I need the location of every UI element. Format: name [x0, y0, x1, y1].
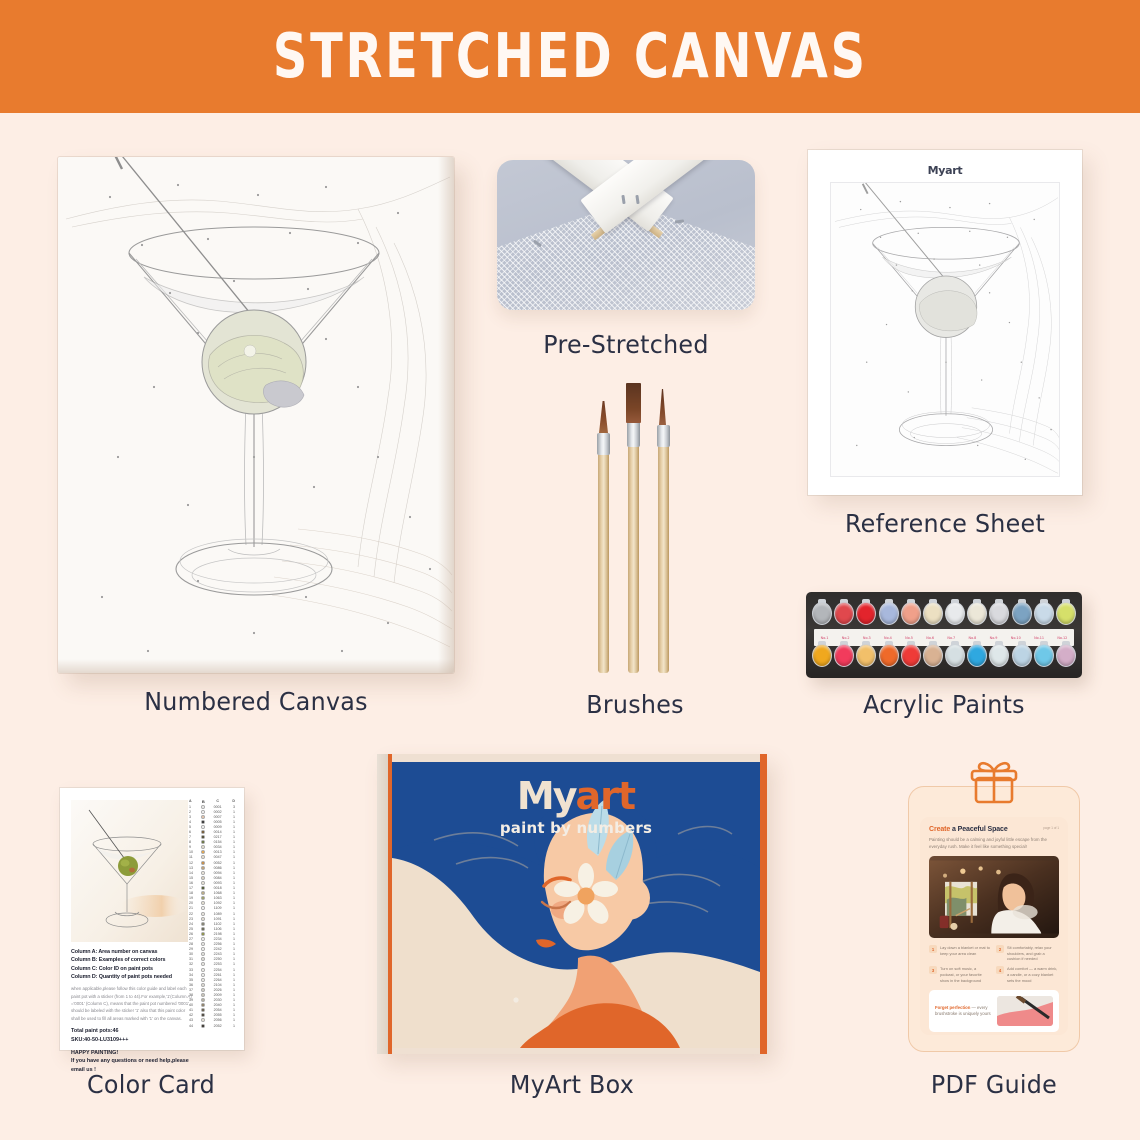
cell-color-swatch: [200, 825, 206, 829]
cell-color-id: 2030: [210, 998, 226, 1002]
col-header-a: A: [189, 799, 197, 803]
cell-area-number: 2: [189, 810, 197, 814]
logo-tagline: paint by numbers: [392, 819, 760, 837]
cell-color-swatch: [200, 830, 206, 834]
cell-color-swatch: [200, 978, 206, 982]
pdf-guide-tips: 1Lay down a blanket or mat to keep your …: [929, 945, 1059, 983]
color-card-row: 300071: [188, 814, 236, 819]
cell-color-id: 2104: [210, 983, 226, 987]
pdf-tip-item: 3Turn on soft music, a podcast, or your …: [929, 966, 991, 983]
cell-color-swatch: [200, 983, 206, 987]
reference-sheet-image: Myart: [808, 150, 1082, 495]
cell-area-number: 11: [189, 855, 197, 859]
cell-quantity: 1: [229, 917, 235, 921]
cell-quantity: 1: [229, 896, 235, 900]
legend-line-b: Column B: Examples of correct colors: [71, 956, 193, 964]
cell-color-swatch: [200, 927, 206, 931]
pdf-tip-text: Sit comfortably, relax your shoulders, a…: [1007, 945, 1058, 962]
cell-quantity: 1: [229, 901, 235, 905]
cell-quantity: 1: [229, 906, 235, 910]
cell-quantity: 1: [229, 820, 235, 824]
pdf-tip-item: 4Add comfort — a warm drink, a candle, o…: [996, 966, 1058, 983]
paint-pot: [879, 641, 899, 669]
cell-quantity: 1: [229, 886, 235, 890]
cell-color-swatch: [200, 891, 206, 895]
color-card-row: 801541: [188, 840, 236, 845]
col-header-d: D: [229, 799, 235, 803]
color-card-legend: Column A: Area number on canvas Column B…: [71, 948, 193, 1074]
cell-color-id: 0086: [210, 866, 226, 870]
total-paint-pots: Total paint pots:46: [71, 1027, 193, 1035]
cell-color-swatch: [200, 855, 206, 859]
cell-color-id: 1068: [210, 891, 226, 895]
color-card-row: 4020401: [188, 1003, 236, 1008]
cell-color-id: 2256: [210, 942, 226, 946]
cell-area-number: 6: [189, 830, 197, 834]
cell-color-id: 2242: [210, 947, 226, 951]
logo-art-text: art: [576, 774, 636, 818]
cell-color-swatch: [200, 952, 206, 956]
cell-color-id: 1102: [210, 922, 226, 926]
cell-area-number: 20: [189, 901, 197, 905]
pdf-guide-footer-card: Forget perfection — every brushstroke is…: [929, 990, 1059, 1032]
color-card-row: 2922421: [188, 947, 236, 952]
cell-quantity: 1: [229, 810, 235, 814]
cell-quantity: 1: [229, 866, 235, 870]
paint-sticker-number: No.12: [1057, 636, 1067, 640]
caption-myart-box: MyArt Box: [387, 1070, 758, 1099]
cell-quantity: 1: [229, 983, 235, 987]
paint-pot: [901, 599, 921, 627]
cell-color-id: 2056: [210, 1018, 226, 1022]
paint-pot: [1034, 599, 1054, 627]
cell-color-id: 0052: [210, 861, 226, 865]
numbered-canvas-image: [58, 157, 454, 673]
cell-color-swatch: [200, 886, 206, 890]
color-card-row: 3422611: [188, 972, 236, 977]
cell-color-id: 2052: [210, 1024, 226, 1028]
paint-pot-body: [989, 644, 1009, 667]
caption-pre-stretched: Pre-Stretched: [503, 330, 748, 359]
caption-reference-sheet: Reference Sheet: [815, 509, 1075, 538]
paint-pot-body: [1012, 602, 1032, 625]
cell-color-swatch: [200, 871, 206, 875]
color-card-photo: [71, 800, 188, 942]
cell-color-id: 2054: [210, 1008, 226, 1012]
product-feature-poster: STRETCHED CANVAS: [0, 0, 1140, 1140]
paint-sticker-number: No.2: [842, 636, 850, 640]
cell-quantity: 1: [229, 912, 235, 916]
cell-color-swatch: [200, 845, 206, 849]
paint-row-top: [812, 599, 1076, 629]
cell-area-number: 9: [189, 845, 197, 849]
cell-area-number: 17: [189, 886, 197, 890]
cell-color-id: 1109: [210, 906, 226, 910]
paint-pot: [834, 641, 854, 669]
paint-pot: [967, 599, 987, 627]
cell-color-swatch: [200, 957, 206, 961]
cell-quantity: 1: [229, 830, 235, 834]
color-card-row: 3022431: [188, 952, 236, 957]
cell-color-id: 2055: [210, 1013, 226, 1017]
cell-color-swatch: [200, 901, 206, 905]
paint-pot: [812, 599, 832, 627]
paint-pot-body: [1056, 602, 1076, 625]
caption-acrylic-paints: Acrylic Paints: [813, 690, 1075, 719]
brush-round-small: [598, 405, 609, 673]
paint-pot: [989, 599, 1009, 627]
cell-color-swatch: [200, 881, 206, 885]
pdf-tip-item: 2Sit comfortably, relax your shoulders, …: [996, 945, 1058, 962]
color-card-table: A B C D 10001320002130007140005150009160…: [188, 799, 236, 1039]
caption-color-card: Color Card: [51, 1070, 251, 1099]
caption-numbered-canvas: Numbered Canvas: [68, 687, 444, 716]
cell-color-swatch: [200, 922, 206, 926]
color-card-row: 2010921: [188, 901, 236, 906]
cell-quantity: 1: [229, 891, 235, 895]
color-card-row: 1300861: [188, 865, 236, 870]
pdf-title-accent: Create: [929, 826, 950, 833]
paint-pot: [1034, 641, 1054, 669]
paint-pot-body: [923, 644, 943, 667]
paint-pot-body: [812, 602, 832, 625]
cell-color-id: 0047: [210, 855, 226, 859]
paint-sticker-number: No.3: [863, 636, 871, 640]
paint-pot-body: [901, 644, 921, 667]
brush-stroke-thumbnail: [997, 996, 1053, 1026]
cell-area-number: 23: [189, 917, 197, 921]
pdf-tip-number: 1: [929, 945, 937, 953]
cell-area-number: 25: [189, 927, 197, 931]
cell-color-id: 2254: [210, 968, 226, 972]
paint-pot-body: [945, 644, 965, 667]
reference-sheet-artwork: [830, 182, 1060, 477]
cell-area-number: 27: [189, 937, 197, 941]
pdf-footer-accent: Forget perfection: [935, 1005, 970, 1010]
box-front-face: Myart paint by numbers: [392, 762, 760, 1048]
color-card-row: 3920301: [188, 998, 236, 1003]
cell-color-swatch: [200, 810, 206, 814]
color-card-row: 2722341: [188, 936, 236, 941]
poster-header: STRETCHED CANVAS: [0, 0, 1140, 113]
paint-pot: [1012, 641, 1032, 669]
paint-sticker-number: No.1: [821, 636, 829, 640]
cell-quantity: 1: [229, 855, 235, 859]
pre-stretched-image: [497, 160, 755, 310]
cell-color-id: 2234: [210, 937, 226, 941]
col-header-b: B: [200, 799, 206, 803]
pdf-tip-number: 3: [929, 966, 937, 974]
color-card-row: 1000131: [188, 850, 236, 855]
cell-color-swatch: [200, 973, 206, 977]
pdf-guide-image: page 1 of 1 Create a Peaceful Space Pain…: [908, 786, 1080, 1052]
canvas-edge-right: [438, 157, 454, 673]
cell-color-swatch: [200, 861, 206, 865]
cell-color-swatch: [200, 962, 206, 966]
cell-color-id: 2026: [210, 988, 226, 992]
paint-pot-body: [812, 644, 832, 667]
cell-color-swatch: [200, 906, 206, 910]
cell-color-swatch: [200, 1018, 206, 1022]
paint-sticker-number: No.11: [1034, 636, 1044, 640]
paint-pot: [945, 641, 965, 669]
reference-sheet-logo: Myart: [808, 164, 1082, 177]
cell-quantity: 1: [229, 1013, 235, 1017]
cell-color-swatch: [200, 840, 206, 844]
col-header-c: C: [210, 799, 226, 803]
pdf-tip-text: Turn on soft music, a podcast, or your f…: [940, 966, 991, 983]
cell-color-id: 0018: [210, 886, 226, 890]
cell-quantity: 1: [229, 871, 235, 875]
pdf-tip-item: 1Lay down a blanket or mat to keep your …: [929, 945, 991, 962]
cell-quantity: 1: [229, 840, 235, 844]
color-card-row: 4120541: [188, 1008, 236, 1013]
cell-color-swatch: [200, 942, 206, 946]
cell-color-swatch: [200, 932, 206, 936]
brush-flat: [628, 383, 639, 673]
paint-pot: [967, 641, 987, 669]
cell-area-number: 21: [189, 906, 197, 910]
myart-logo: Myart paint by numbers: [392, 774, 760, 837]
cell-quantity: 1: [229, 988, 235, 992]
paint-pot-body: [1034, 644, 1054, 667]
color-card-row: 3621041: [188, 982, 236, 987]
cell-color-swatch: [200, 1003, 206, 1007]
cell-color-id: 1092: [210, 901, 226, 905]
paint-pot: [923, 641, 943, 669]
cell-quantity: 1: [229, 973, 235, 977]
cell-quantity: 1: [229, 942, 235, 946]
pdf-footer-text: Forget perfection — every brushstroke is…: [935, 1005, 991, 1017]
cell-color-swatch: [200, 993, 206, 997]
happy-painting-label: HAPPY PAINTING!: [71, 1049, 193, 1057]
cell-quantity: 1: [229, 1024, 235, 1028]
color-card-row: 2511061: [188, 926, 236, 931]
cell-area-number: 8: [189, 840, 197, 844]
paint-pot-body: [967, 602, 987, 625]
cell-color-id: 0093: [210, 881, 226, 885]
pdf-title-rest: a Peaceful Space: [950, 826, 1007, 833]
box-right-edge: [760, 754, 767, 1054]
gift-icon: [909, 759, 1079, 810]
cell-color-id: 0034: [210, 845, 226, 849]
cell-color-id: 0005: [210, 820, 226, 824]
pdf-tip-number: 4: [996, 966, 1004, 974]
color-card-row: 3222531: [188, 962, 236, 967]
paint-pot-body: [1034, 602, 1054, 625]
color-card-row: 4220551: [188, 1013, 236, 1018]
pdf-guide-subtitle: Painting should be a calming and joyful …: [929, 836, 1059, 850]
cell-quantity: 1: [229, 1003, 235, 1007]
cell-quantity: 3: [229, 805, 235, 809]
cell-color-swatch: [200, 820, 206, 824]
cell-quantity: 1: [229, 845, 235, 849]
cell-color-swatch: [200, 815, 206, 819]
paint-pot-body: [834, 602, 854, 625]
cell-area-number: 15: [189, 876, 197, 880]
cell-quantity: 1: [229, 937, 235, 941]
cell-quantity: 1: [229, 922, 235, 926]
paint-sticker-number: No.8: [969, 636, 977, 640]
cell-color-swatch: [200, 866, 206, 870]
cell-quantity: 1: [229, 815, 235, 819]
cell-quantity: 1: [229, 947, 235, 951]
paint-row-bottom: [812, 641, 1076, 671]
cell-color-id: 0154: [210, 840, 226, 844]
martini-outline-artwork: [831, 183, 1059, 476]
paint-pot-body: [834, 644, 854, 667]
cell-area-number: 14: [189, 871, 197, 875]
gift-box-icon: [967, 759, 1021, 805]
cell-area-number: 18: [189, 891, 197, 895]
cell-color-swatch: [200, 912, 206, 916]
pdf-guide-photo: [929, 856, 1059, 938]
color-card-row: 900341: [188, 845, 236, 850]
cell-color-swatch: [200, 917, 206, 921]
brushes-image: [578, 383, 690, 673]
paint-sticker-number: No.5: [905, 636, 913, 640]
martini-paint-by-numbers-artwork: [58, 157, 454, 673]
cell-area-number: 13: [189, 866, 197, 870]
pdf-guide-page: page 1 of 1 Create a Peaceful Space Pain…: [920, 817, 1068, 1035]
cell-color-swatch: [200, 937, 206, 941]
color-card-row: 3322541: [188, 967, 236, 972]
color-card-row: 702171: [188, 835, 236, 840]
color-card-row: 3820091: [188, 992, 236, 997]
cell-color-id: 1106: [210, 927, 226, 931]
color-card-row: 1700181: [188, 886, 236, 891]
cell-area-number: 3: [189, 815, 197, 819]
cell-color-id: 2253: [210, 962, 226, 966]
cell-color-swatch: [200, 876, 206, 880]
cell-quantity: 1: [229, 850, 235, 854]
cell-color-id: 0094: [210, 871, 226, 875]
cell-color-swatch: [200, 968, 206, 972]
paint-pot-body: [856, 644, 876, 667]
logo-my-text: My: [517, 774, 576, 818]
paint-pot: [856, 599, 876, 627]
paint-pot: [1056, 599, 1076, 627]
cell-quantity: 1: [229, 835, 235, 839]
cell-color-id: 1063: [210, 896, 226, 900]
color-card-row: 2621981: [188, 931, 236, 936]
cell-color-swatch: [200, 850, 206, 854]
acrylic-paints-tray: No.1No.2No.3No.4No.5No.6No.7No.8No.9No.1…: [806, 592, 1082, 678]
cell-quantity: 1: [229, 962, 235, 966]
paint-pot: [879, 599, 899, 627]
sku-label: SKU:40-50-LU3109+++: [71, 1036, 193, 1044]
cell-color-id: 0084: [210, 876, 226, 880]
cell-area-number: 5: [189, 825, 197, 829]
cell-color-swatch: [200, 1013, 206, 1017]
paint-pot-body: [856, 602, 876, 625]
color-card-row: 600141: [188, 829, 236, 834]
cell-color-id: 1089: [210, 912, 226, 916]
color-card-row: 2310911: [188, 916, 236, 921]
cell-area-number: 10: [189, 850, 197, 854]
color-card-row: 2822561: [188, 942, 236, 947]
cell-color-id: 2009: [210, 993, 226, 997]
paint-sticker-number: No.9: [990, 636, 998, 640]
cell-quantity: 1: [229, 968, 235, 972]
myart-box-image: Myart paint by numbers: [377, 754, 767, 1054]
paint-pot: [834, 599, 854, 627]
color-card-row: 1200521: [188, 860, 236, 865]
paint-pot-body: [1056, 644, 1076, 667]
legend-line-d: Column D: Quantity of paint pots needed: [71, 973, 193, 981]
cell-quantity: 1: [229, 952, 235, 956]
cell-area-number: 4: [189, 820, 197, 824]
legend-line-a: Column A: Area number on canvas: [71, 948, 193, 956]
paint-sticker-number: No.7: [947, 636, 955, 640]
cell-quantity: 1: [229, 1018, 235, 1022]
pdf-tip-text: Lay down a blanket or mat to keep your a…: [940, 945, 991, 962]
cell-quantity: 1: [229, 927, 235, 931]
cell-area-number: 19: [189, 896, 197, 900]
cell-color-id: 0014: [210, 830, 226, 834]
paint-pot-body: [879, 602, 899, 625]
color-card-row: 3122501: [188, 957, 236, 962]
paint-pot-body: [1012, 644, 1032, 667]
cell-area-number: 16: [189, 881, 197, 885]
cell-area-number: 24: [189, 922, 197, 926]
paint-sticker-number: No.10: [1011, 636, 1021, 640]
cell-color-swatch: [200, 947, 206, 951]
color-card-row: 1400941: [188, 870, 236, 875]
caption-brushes: Brushes: [507, 690, 764, 719]
color-card-row: 3720261: [188, 987, 236, 992]
cell-color-id: 0001: [210, 805, 226, 809]
caption-pdf-guide: PDF Guide: [899, 1070, 1089, 1099]
page-title: STRETCHED CANVAS: [272, 21, 867, 92]
pdf-tip-text: Add comfort — a warm drink, a candle, or…: [1007, 966, 1058, 983]
box-spine: [377, 754, 388, 1054]
paint-pot-body: [945, 602, 965, 625]
paint-pot: [1056, 641, 1076, 669]
color-card-row: 400051: [188, 819, 236, 824]
color-card-row: 1600931: [188, 880, 236, 885]
cell-quantity: 1: [229, 993, 235, 997]
cell-area-number: 26: [189, 932, 197, 936]
cell-color-id: 2261: [210, 973, 226, 977]
cell-area-number: 28: [189, 942, 197, 946]
cell-color-id: 0002: [210, 810, 226, 814]
pdf-guide-title: page 1 of 1 Create a Peaceful Space: [929, 826, 1059, 833]
cell-color-swatch: [200, 896, 206, 900]
color-card-row: 3522641: [188, 977, 236, 982]
canvas-edge-bottom: [58, 659, 454, 673]
cell-area-number: 12: [189, 861, 197, 865]
paint-pot-body: [923, 602, 943, 625]
cell-quantity: 1: [229, 998, 235, 1002]
cell-quantity: 1: [229, 978, 235, 982]
pdf-page-label: page 1 of 1: [1043, 826, 1059, 830]
cell-quantity: 1: [229, 876, 235, 880]
paint-pot-body: [967, 644, 987, 667]
cell-quantity: 1: [229, 932, 235, 936]
cell-quantity: 1: [229, 825, 235, 829]
paint-pot: [812, 641, 832, 669]
pdf-footer-thumbnail: [997, 996, 1053, 1026]
cell-color-swatch: [200, 1024, 206, 1028]
cell-color-id: 0217: [210, 835, 226, 839]
color-card-row: 1100471: [188, 855, 236, 860]
cell-quantity: 1: [229, 957, 235, 961]
paint-pot: [1012, 599, 1032, 627]
paint-pot-body: [901, 602, 921, 625]
pdf-tip-number: 2: [996, 945, 1004, 953]
martini-photo-illustration: [71, 800, 188, 942]
